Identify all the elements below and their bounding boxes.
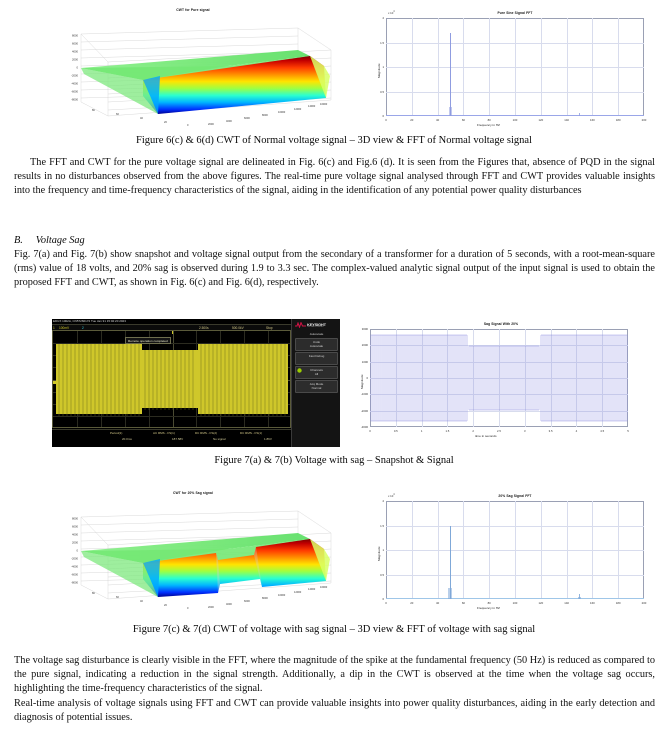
xtick: 4: [576, 429, 578, 433]
xtick: 40: [436, 118, 439, 122]
xtick: 120: [538, 118, 543, 122]
xtick: 180: [616, 601, 621, 605]
scope-waveform-channel1: [56, 331, 288, 427]
chart-title-fft-pure: Pure Sine Signal FFT: [372, 11, 658, 15]
figure-6d-fft-pure: Pure Sine Signal FFT x 104: [372, 6, 658, 128]
channels-indicator-icon: [297, 368, 302, 373]
xaxis-label-fft-sag: Frequency in HZ: [477, 606, 500, 610]
paragraph-realtime-conclusion: Real-time analysis of voltage signals us…: [14, 697, 655, 725]
y-exponent-power: 4: [393, 11, 394, 13]
xtick: 0: [385, 601, 387, 605]
xtick: 100: [513, 118, 518, 122]
scope-remote-message: Remote operation completed: [125, 337, 171, 344]
ytick: 0.5: [372, 90, 384, 94]
figure-7a-oscilloscope-snapshot: EDUX 1002A, CN57260172 Tue Jan 31 15:02:…: [52, 319, 340, 447]
measurement-label: Period(1): [110, 431, 122, 435]
ytick: 1.5: [372, 524, 384, 528]
y-exponent-power: 4: [393, 494, 394, 496]
xtick: 20: [410, 601, 413, 605]
figure-7c-cwt-sag-3d: CWT for 20% Sag signal 8000 6000 4000 20…: [48, 489, 338, 611]
section-heading-voltage-sag: B. Voltage Sag: [14, 234, 655, 248]
caption-figure-6: Figure 6(c) & 6(d) CWT of Normal voltage…: [0, 134, 668, 147]
xtick: 60: [462, 601, 465, 605]
softkey-undo-autoscale[interactable]: Undo Autoscale: [295, 338, 338, 351]
measurement-label: DC RMS - FS(1): [240, 431, 262, 435]
figure-6c-cwt-pure-3d: CWT for Pure signal 8000 6000 4000 2000 …: [48, 6, 338, 128]
caption-figure-7cd: Figure 7(c) & 7(d) CWT of voltage with s…: [0, 623, 668, 636]
fft-sag-trace: [386, 501, 644, 599]
ytick: 3000: [352, 327, 368, 331]
xtick: 180: [616, 118, 621, 122]
ytick: -2000: [352, 409, 368, 413]
figure-7b-sag-signal: Sag Signal With 20%: [352, 319, 650, 447]
xtick: 160: [590, 601, 595, 605]
xaxis-label-sag-signal: time in seconds: [475, 434, 497, 438]
xtick: 2.5: [497, 429, 501, 433]
xtick: 0.5: [394, 429, 398, 433]
softkey-line1: Fast Debug: [296, 354, 337, 358]
xtick: 2: [472, 429, 474, 433]
xtick: 100: [513, 601, 518, 605]
y-exponent-fft-sag: x 104: [388, 494, 395, 498]
ytick: 2: [372, 499, 384, 503]
xtick: 0: [385, 118, 387, 122]
section-title: Voltage Sag: [36, 235, 85, 246]
paragraph-pure-signal-analysis: The FFT and CWT for the pure voltage sig…: [14, 156, 655, 199]
xtick: 140: [564, 118, 569, 122]
ytick: 0: [372, 114, 384, 118]
measurement-value: 1.86V: [264, 437, 272, 441]
figure-7d-fft-sag: 20% Sag Signal FFT x 104 2 1.5 1 0.5: [372, 489, 658, 611]
measurement-value: 20.0ms: [122, 437, 132, 441]
xtick: 200: [642, 118, 647, 122]
xtick: 60: [462, 118, 465, 122]
xtick: 3.5: [549, 429, 553, 433]
paragraph-sag-fft-analysis: The voltage sag disturbance is clearly v…: [14, 654, 655, 697]
ytick: -1000: [352, 392, 368, 396]
xtick: 80: [488, 601, 491, 605]
yaxis-label-fft-pure: Magnitude: [377, 64, 381, 78]
paragraph-text: The FFT and CWT for the pure voltage sig…: [14, 157, 655, 196]
measurement-value: 187.58V: [172, 437, 183, 441]
ytick: 2: [372, 16, 384, 20]
sag-signal-trace: [370, 329, 628, 427]
measurement-label: AC RMS - FS(1): [153, 431, 175, 435]
caption-figure-7ab: Figure 7(a) & 7(b) Voltage with sag – Sn…: [0, 454, 668, 467]
xtick: 120: [538, 601, 543, 605]
measurement-label: DC RMS - FS(2): [195, 431, 217, 435]
xtick: 40: [436, 601, 439, 605]
yaxis-label-fft-sag: Magnitude: [377, 547, 381, 561]
softkey-acq-mode[interactable]: Acq Mode Normal: [295, 380, 338, 393]
softkey-line2: All: [296, 372, 337, 376]
chart-title-fft-sag: 20% Sag Signal FFT: [372, 494, 658, 498]
xtick: 1: [421, 429, 423, 433]
y-exponent-fft-pure: x 104: [388, 11, 395, 15]
ytick: -3000: [352, 425, 368, 429]
scope-softkey-menu: KEYSIGHT TECHNOLOGIES Autoscale Undo Aut…: [291, 319, 340, 447]
xtick: 5: [627, 429, 629, 433]
keysight-brand-subtext: TECHNOLOGIES: [307, 326, 324, 328]
xtick: 200: [642, 601, 647, 605]
ytick: 0.5: [372, 573, 384, 577]
xaxis-label-fft-pure: Frequency in HZ: [477, 123, 500, 127]
softkey-line2: Autoscale: [296, 344, 337, 348]
yaxis-label-sag-signal: Magnitude: [360, 375, 364, 389]
softkey-fast-debug[interactable]: Fast Debug: [295, 352, 338, 365]
chart-title-sag-signal: Sag Signal With 20%: [352, 322, 650, 326]
softkey-line2: Normal: [296, 386, 337, 390]
ytick: 1000: [352, 360, 368, 364]
xtick: 80: [488, 118, 491, 122]
cwt-sag-surface: [48, 489, 338, 611]
keysight-wave-icon: [295, 322, 306, 328]
ytick: 0: [372, 597, 384, 601]
scope-graticule: Remote operation completed: [52, 330, 291, 428]
xtick: 20: [410, 118, 413, 122]
xtick: 140: [564, 601, 569, 605]
softkey-menu-title: Autoscale: [292, 332, 340, 336]
document-page: CWT for Pure signal 8000 6000 4000 2000 …: [0, 0, 668, 735]
fft-peak-150hz-skirt: [578, 597, 581, 599]
xtick: 1.5: [445, 429, 449, 433]
measurement-value: No signal: [213, 437, 226, 441]
paragraph-voltage-sag-setup: Fig. 7(a) and Fig. 7(b) show snapshot an…: [14, 248, 655, 291]
xtick: 160: [590, 118, 595, 122]
fft-peak-50hz-skirt: [449, 107, 452, 116]
fft-peak-50hz-skirt: [448, 588, 452, 599]
fft-peak-150hz: [579, 113, 580, 116]
section-label: B.: [14, 235, 23, 246]
xtick: 0: [369, 429, 371, 433]
xtick: 3: [524, 429, 526, 433]
xtick: 4.5: [600, 429, 604, 433]
ytick: 2000: [352, 343, 368, 347]
cwt-pure-surface: [48, 6, 338, 128]
fft-pure-trace: [386, 18, 644, 116]
ytick: 1.5: [372, 41, 384, 45]
fft-peak-50hz: [450, 33, 451, 116]
